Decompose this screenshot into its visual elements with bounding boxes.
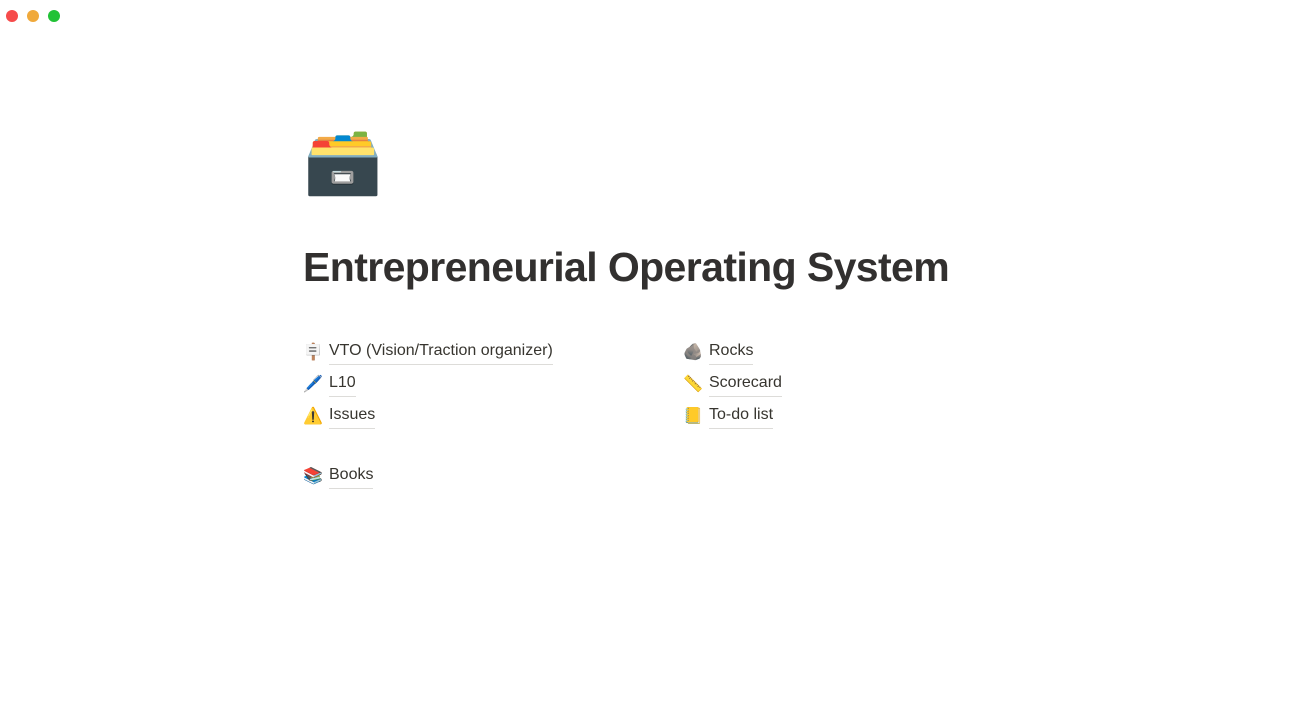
pen-icon: 🖊️ bbox=[303, 376, 322, 392]
list-item-label: Books bbox=[329, 463, 373, 489]
list-item-issues[interactable]: ⚠️ Issues bbox=[303, 400, 683, 432]
list-item-label: Scorecard bbox=[709, 371, 782, 397]
warning-icon: ⚠️ bbox=[303, 408, 322, 424]
list-item-label: To-do list bbox=[709, 403, 773, 429]
page-title[interactable]: Entrepreneurial Operating System bbox=[303, 244, 1243, 291]
page-canvas: 🗃️ Entrepreneurial Operating System 🪧 VT… bbox=[0, 0, 1313, 710]
card-index-box-icon[interactable]: 🗃️ bbox=[303, 130, 1243, 202]
ledger-notebook-icon: 📒 bbox=[683, 408, 702, 424]
straight-ruler-icon: 📏 bbox=[683, 376, 702, 392]
list-item-books[interactable]: 📚 Books bbox=[303, 460, 683, 492]
list-item-label: Issues bbox=[329, 403, 375, 429]
list-item-todo-list[interactable]: 📒 To-do list bbox=[683, 400, 1063, 432]
link-columns: 🪧 VTO (Vision/Traction organizer) 🖊️ L10… bbox=[303, 336, 1243, 492]
books-icon: 📚 bbox=[303, 468, 322, 484]
list-item-label: L10 bbox=[329, 371, 356, 397]
rock-icon: 🪨 bbox=[683, 344, 702, 360]
list-item-l10[interactable]: 🖊️ L10 bbox=[303, 368, 683, 400]
placard-icon: 🪧 bbox=[303, 344, 322, 360]
list-item-rocks[interactable]: 🪨 Rocks bbox=[683, 336, 1063, 368]
link-column-left: 🪧 VTO (Vision/Traction organizer) 🖊️ L10… bbox=[303, 336, 683, 492]
empty-row bbox=[303, 432, 683, 460]
link-column-right: 🪨 Rocks 📏 Scorecard 📒 To-do list bbox=[683, 336, 1063, 432]
list-item-scorecard[interactable]: 📏 Scorecard bbox=[683, 368, 1063, 400]
list-item-label: Rocks bbox=[709, 339, 753, 365]
list-item-vto[interactable]: 🪧 VTO (Vision/Traction organizer) bbox=[303, 336, 683, 368]
list-item-label: VTO (Vision/Traction organizer) bbox=[329, 339, 553, 365]
page-content: 🗃️ Entrepreneurial Operating System 🪧 VT… bbox=[303, 130, 1243, 492]
